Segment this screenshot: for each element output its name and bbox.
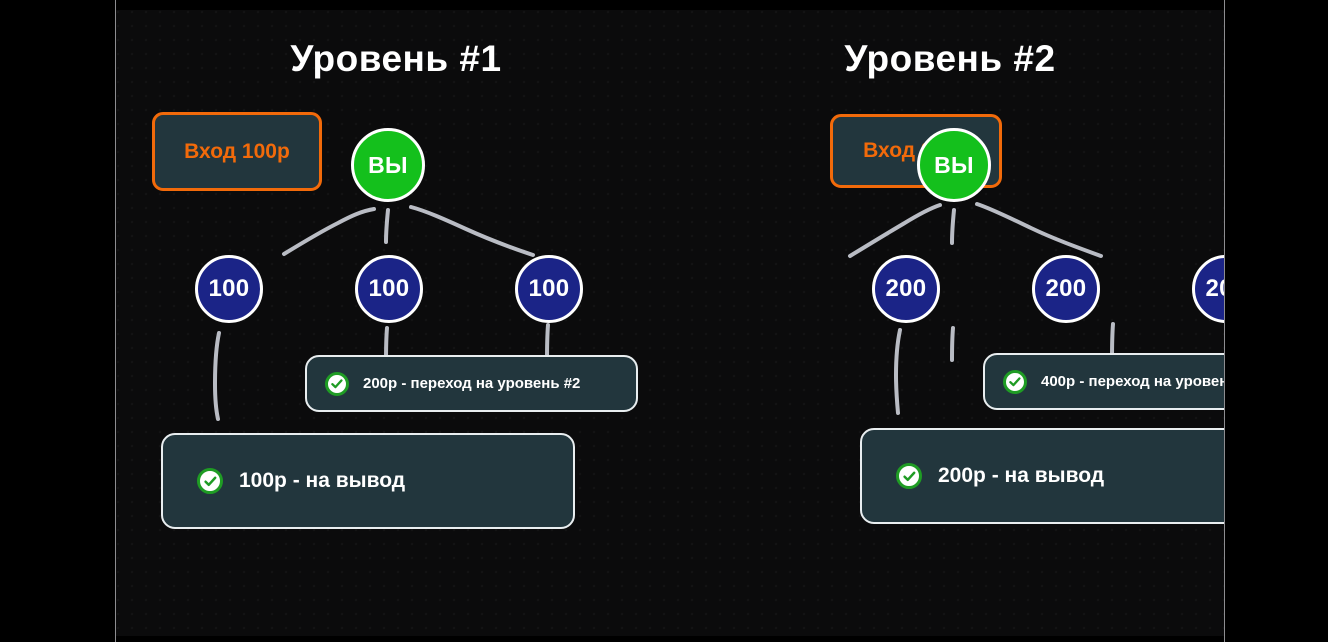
connector-root-to-child-2	[386, 210, 388, 242]
level-1-child-node-2[interactable]: 100	[355, 255, 423, 323]
slide-stage: Уровень #1 Вход 100р ВЫ 100 100	[0, 0, 1328, 642]
level-1-payout-text: 100р - на вывод	[239, 469, 405, 493]
level-1-upgrade-callout[interactable]: 200р - переход на уровень #2	[305, 355, 638, 412]
level-1-entry-chip[interactable]: Вход 100р	[152, 112, 322, 191]
level-2-payout-callout[interactable]: 200р - на вывод	[860, 428, 1224, 524]
connector-child-2-to-upgrade	[952, 328, 953, 360]
level-1-connectors	[116, 10, 676, 636]
level-2-root-node[interactable]: ВЫ	[917, 128, 991, 202]
level-2-child-label-1: 200	[886, 275, 927, 303]
level-1-child-label-2: 100	[369, 275, 410, 303]
connector-root-to-child-3	[411, 207, 533, 255]
connector-root-to-child-1	[284, 209, 374, 254]
level-1-root-node[interactable]: ВЫ	[351, 128, 425, 202]
level-1-entry-label: Вход 100р	[184, 140, 290, 164]
level-2-child-node-1[interactable]: 200	[872, 255, 940, 323]
slide-right-edge-rule	[1224, 0, 1225, 642]
level-1-child-node-3[interactable]: 100	[515, 255, 583, 323]
level-1-title: Уровень #1	[116, 38, 676, 80]
level-2-payout-text: 200р - на вывод	[938, 464, 1104, 488]
level-2-root-label: ВЫ	[934, 152, 974, 179]
check-circle-icon	[197, 468, 223, 494]
level-column-1: Уровень #1 Вход 100р ВЫ 100 100	[116, 10, 676, 636]
check-circle-icon	[325, 372, 349, 396]
presentation-slide: Уровень #1 Вход 100р ВЫ 100 100	[116, 10, 1224, 636]
level-2-child-node-2[interactable]: 200	[1032, 255, 1100, 323]
level-1-payout-callout[interactable]: 100р - на вывод	[161, 433, 575, 529]
connector-child-1-to-payout	[896, 330, 900, 413]
level-2-upgrade-text: 400р - переход на уровень #3	[1041, 373, 1224, 390]
level-2-child-node-3[interactable]: 200	[1192, 255, 1224, 323]
level-2-child-label-2: 200	[1046, 275, 1087, 303]
connector-root-to-child-3	[977, 204, 1101, 256]
level-1-child-node-1[interactable]: 100	[195, 255, 263, 323]
level-2-connectors	[676, 10, 1224, 636]
level-1-child-label-3: 100	[529, 275, 570, 303]
check-circle-icon	[896, 463, 922, 489]
connector-root-to-child-2	[952, 210, 954, 243]
check-circle-icon	[1003, 370, 1027, 394]
level-2-title: Уровень #2	[676, 38, 1224, 80]
connector-child-1-to-payout	[215, 333, 219, 419]
level-2-child-label-3: 200	[1206, 275, 1224, 303]
level-1-root-label: ВЫ	[368, 152, 408, 179]
connector-root-to-child-1	[850, 205, 940, 256]
level-1-upgrade-text: 200р - переход на уровень #2	[363, 375, 580, 392]
level-column-2: Уровень #2 Вход 200р ВЫ 200 200	[676, 10, 1224, 636]
level-1-child-label-1: 100	[209, 275, 250, 303]
level-2-upgrade-callout[interactable]: 400р - переход на уровень #3	[983, 353, 1224, 410]
